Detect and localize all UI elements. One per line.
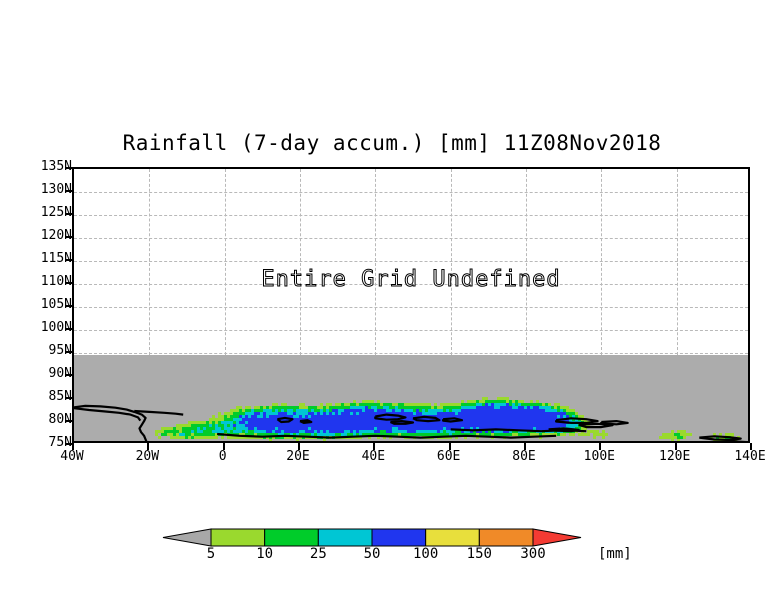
chart-canvas: Rainfall (7-day accum.) [mm] 11Z08Nov201… bbox=[0, 0, 784, 612]
x-tick-mark bbox=[750, 443, 752, 450]
y-tick-label: 135N bbox=[10, 159, 72, 174]
x-tick-label: 20W bbox=[112, 449, 182, 464]
chart-title: Rainfall (7-day accum.) [mm] 11Z08Nov201… bbox=[0, 131, 784, 155]
y-tick-mark bbox=[65, 397, 72, 399]
x-tick-label: 80E bbox=[489, 449, 559, 464]
y-tick-mark bbox=[65, 351, 72, 353]
x-tick-label: 120E bbox=[640, 449, 710, 464]
x-tick-mark bbox=[449, 443, 451, 450]
y-tick-mark bbox=[65, 328, 72, 330]
y-tick-mark bbox=[65, 443, 72, 445]
colorbar bbox=[163, 529, 581, 546]
y-tick-mark bbox=[65, 236, 72, 238]
plot-inner: Entire Grid Undefined bbox=[74, 169, 748, 441]
colorbar-swatches bbox=[163, 529, 581, 546]
y-tick-mark bbox=[65, 213, 72, 215]
rainfall-map bbox=[74, 169, 750, 443]
x-tick-mark bbox=[373, 443, 375, 450]
y-tick-label: 90N bbox=[10, 366, 72, 381]
y-tick-mark bbox=[65, 190, 72, 192]
x-tick-mark bbox=[223, 443, 225, 450]
x-tick-label: 140E bbox=[715, 449, 784, 464]
x-tick-mark bbox=[524, 443, 526, 450]
y-tick-label: 125N bbox=[10, 205, 72, 220]
y-tick-label: 80N bbox=[10, 412, 72, 427]
colorbar-tick-label: 5 bbox=[181, 546, 241, 562]
y-tick-label: 105N bbox=[10, 297, 72, 312]
x-tick-label: 40E bbox=[338, 449, 408, 464]
y-tick-label: 110N bbox=[10, 274, 72, 289]
y-tick-label: 115N bbox=[10, 251, 72, 266]
x-tick-mark bbox=[298, 443, 300, 450]
colorbar-tick-label: 50 bbox=[342, 546, 402, 562]
y-tick-label: 75N bbox=[10, 435, 72, 450]
y-tick-label: 85N bbox=[10, 389, 72, 404]
y-tick-mark bbox=[65, 282, 72, 284]
colorbar-tick-label: 150 bbox=[449, 546, 509, 562]
y-tick-label: 120N bbox=[10, 228, 72, 243]
x-tick-mark bbox=[72, 443, 74, 450]
x-tick-label: 0 bbox=[188, 449, 258, 464]
x-tick-label: 100E bbox=[564, 449, 634, 464]
colorbar-tick-label: 10 bbox=[235, 546, 295, 562]
x-tick-mark bbox=[147, 443, 149, 450]
x-tick-label: 20E bbox=[263, 449, 333, 464]
undefined-annotation: Entire Grid Undefined bbox=[74, 267, 748, 292]
y-tick-mark bbox=[65, 167, 72, 169]
y-tick-mark bbox=[65, 305, 72, 307]
x-tick-mark bbox=[599, 443, 601, 450]
x-tick-label: 60E bbox=[414, 449, 484, 464]
plot-area: Entire Grid Undefined bbox=[72, 167, 750, 443]
y-tick-label: 95N bbox=[10, 343, 72, 358]
colorbar-tick-label: 300 bbox=[503, 546, 563, 562]
y-tick-mark bbox=[65, 420, 72, 422]
x-tick-label: 40W bbox=[37, 449, 107, 464]
y-tick-mark bbox=[65, 374, 72, 376]
y-tick-mark bbox=[65, 259, 72, 261]
colorbar-tick-label: 100 bbox=[396, 546, 456, 562]
x-tick-mark bbox=[675, 443, 677, 450]
y-tick-label: 100N bbox=[10, 320, 72, 335]
colorbar-unit-label: [mm] bbox=[598, 546, 632, 562]
colorbar-tick-label: 25 bbox=[288, 546, 348, 562]
y-tick-label: 130N bbox=[10, 182, 72, 197]
